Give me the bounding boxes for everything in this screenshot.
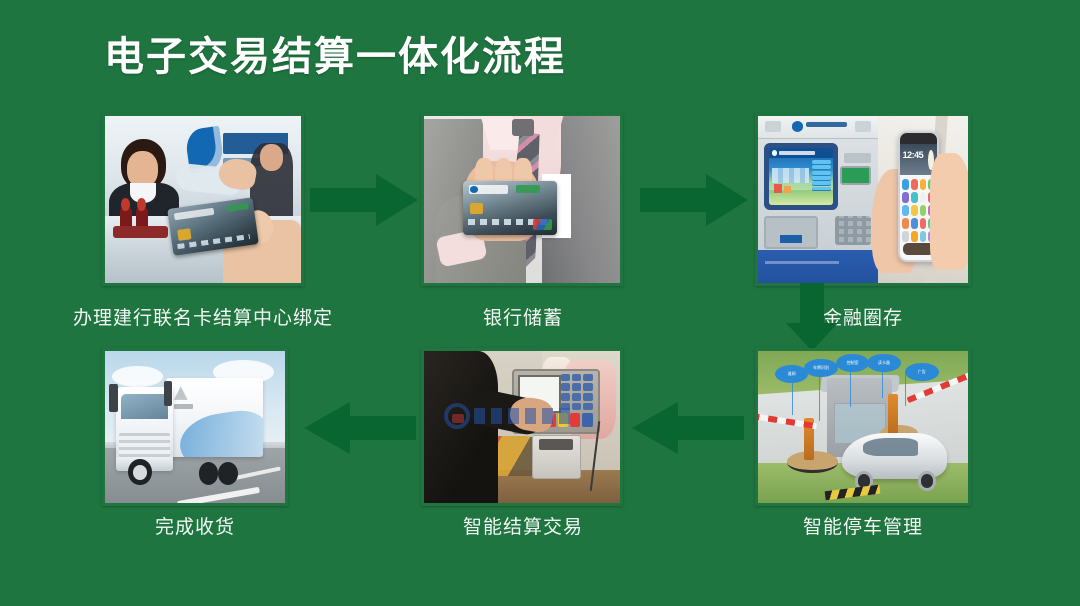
- background-person-face: [260, 144, 284, 171]
- callout-tag: 广告: [905, 363, 939, 381]
- tie-knot: [512, 119, 534, 136]
- side-mirror: [164, 381, 171, 405]
- arrow-step2-to-step3: [640, 172, 748, 228]
- truck-trailer: [166, 378, 263, 457]
- phone-clock: 12:45: [903, 150, 924, 160]
- receipt-printer: [532, 435, 581, 480]
- arrow-step5-to-step6: [304, 400, 416, 456]
- atm-base-panel: [758, 250, 878, 283]
- arrow-step1-to-step2: [310, 172, 418, 228]
- bank-counter-scene: [105, 116, 301, 283]
- callout-tags: 道闸 车牌识别 控制室 读卡器 广告: [758, 351, 968, 503]
- step-image-4[interactable]: 道闸 车牌识别 控制室 读卡器 广告: [755, 348, 971, 506]
- atm-screen-bezel: [764, 143, 838, 210]
- step-image-6[interactable]: [102, 348, 288, 506]
- truck-tire: [199, 462, 219, 485]
- smart-parking-scene: 道闸 车牌识别 控制室 读卡器 广告: [758, 351, 968, 503]
- step-caption-6: 完成收货: [100, 512, 290, 539]
- windshield: [121, 394, 168, 420]
- atm-machine: [758, 116, 878, 283]
- savings-bank-card: [463, 181, 557, 234]
- stamp-base: [113, 226, 168, 238]
- watermark: [444, 400, 573, 433]
- step-image-1[interactable]: [102, 113, 304, 286]
- atm-and-phone-scene: 12:45: [758, 116, 968, 283]
- delivery-truck-scene: [105, 351, 285, 503]
- step-caption-5: 智能结算交易: [422, 512, 624, 539]
- front-grille: [119, 433, 169, 457]
- cash-dispenser-slot: [840, 166, 870, 185]
- truck-tire: [218, 462, 238, 485]
- step-image-2[interactable]: [421, 113, 623, 286]
- step-image-3[interactable]: 12:45: [755, 113, 971, 286]
- deposit-tray: [764, 216, 818, 248]
- smartphone-scene: 12:45: [878, 116, 968, 283]
- mitsubishi-logo-icon: [174, 386, 188, 402]
- callout-tag: 控制室: [836, 354, 870, 372]
- step-image-5[interactable]: [421, 348, 623, 506]
- settlement-terminal-scene: [424, 351, 620, 503]
- arrow-step3-to-step4: [784, 283, 840, 351]
- atm-screen: [769, 148, 833, 205]
- card-slot: [844, 153, 870, 163]
- callout-tag: 读卡器: [867, 354, 901, 372]
- atm-keypad: [835, 216, 871, 244]
- arrow-step4-to-step5: [632, 400, 744, 456]
- ccb-logo-icon: [792, 121, 804, 132]
- callout-tag: 车牌识别: [804, 359, 838, 377]
- step-caption-1: 办理建行联名卡结算中心绑定: [52, 303, 354, 330]
- page-title: 电子交易结算一体化流程: [104, 33, 566, 81]
- step-caption-4: 智能停车管理: [760, 512, 966, 539]
- right-hand: [930, 153, 968, 270]
- step-caption-2: 银行储蓄: [422, 303, 624, 330]
- atm-header-panel: [758, 116, 878, 139]
- slide-canvas: 电子交易结算一体化流程 办理建行联名卡结算中心绑定: [0, 0, 1080, 606]
- businessman-card-scene: [424, 116, 620, 283]
- side-mirror: [109, 384, 118, 411]
